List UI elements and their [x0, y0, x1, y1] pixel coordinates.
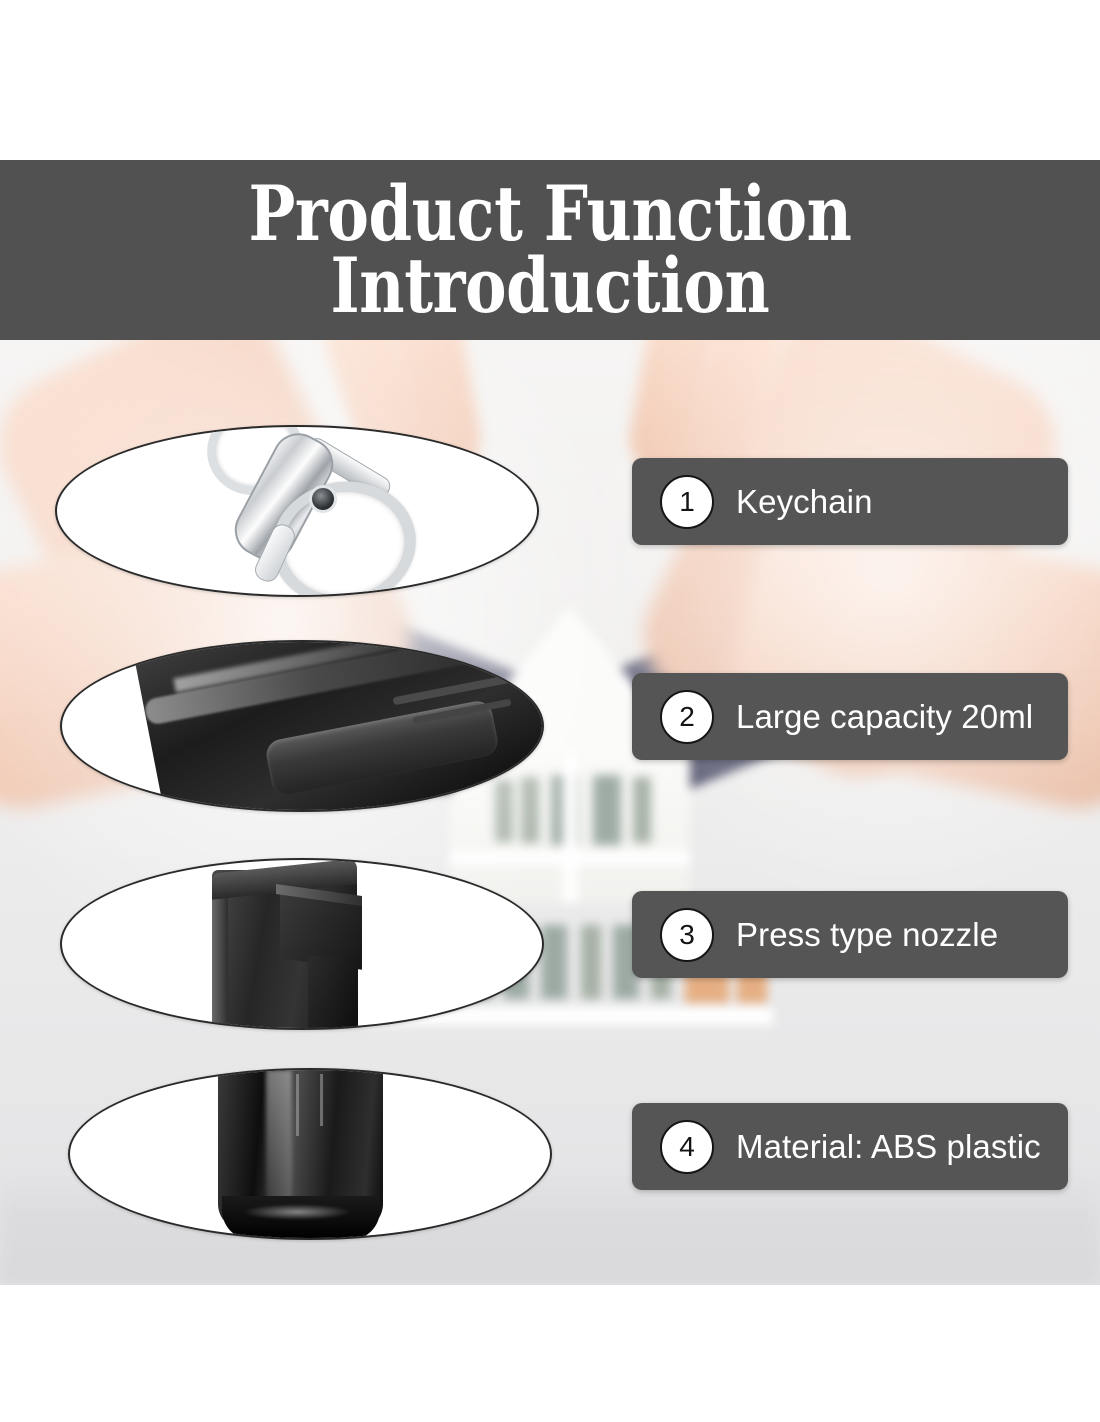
- feature-label-1: Keychain: [736, 483, 873, 521]
- infographic-page: Product Function Introduction: [0, 0, 1100, 1422]
- callout-oval-nozzle: [60, 858, 544, 1030]
- feature-number-badge-4: 4: [660, 1120, 714, 1174]
- bottle-base-closeup: [70, 1070, 550, 1238]
- bottle-body-closeup: [62, 642, 542, 810]
- header-banner: Product Function Introduction: [0, 160, 1100, 340]
- keychain-clasp-closeup: [57, 427, 537, 595]
- clasp-rivet: [309, 485, 337, 513]
- bottle-base-gloss: [242, 1204, 352, 1220]
- feature-number-badge-2: 2: [660, 690, 714, 744]
- callout-oval-capacity: [60, 640, 544, 812]
- callout-oval-keychain: [55, 425, 539, 597]
- bottle-base-slit: [296, 1074, 299, 1136]
- press-nozzle-closeup: [62, 860, 542, 1028]
- feature-number-badge-3: 3: [660, 908, 714, 962]
- bottle-base-slit: [320, 1074, 323, 1126]
- feature-label-2: Large capacity 20ml: [736, 698, 1033, 736]
- feature-box-1[interactable]: 1 Keychain: [632, 458, 1068, 545]
- feature-number-badge-1: 1: [660, 475, 714, 529]
- bottom-white-margin: [0, 1285, 1100, 1422]
- feature-box-4[interactable]: 4 Material: ABS plastic: [632, 1103, 1068, 1190]
- feature-label-3: Press type nozzle: [736, 916, 998, 954]
- feature-label-4: Material: ABS plastic: [736, 1128, 1041, 1166]
- callout-oval-material: [68, 1068, 552, 1240]
- nozzle-side-face: [212, 878, 228, 1028]
- top-white-margin: [0, 0, 1100, 160]
- feature-box-3[interactable]: 3 Press type nozzle: [632, 891, 1068, 978]
- photo-stage: 1 Keychain 2 Large capacity 20ml 3 Press…: [0, 340, 1100, 1285]
- page-title: Product Function Introduction: [99, 178, 1001, 322]
- feature-box-2[interactable]: 2 Large capacity 20ml: [632, 673, 1068, 760]
- nozzle-notch: [308, 956, 358, 1028]
